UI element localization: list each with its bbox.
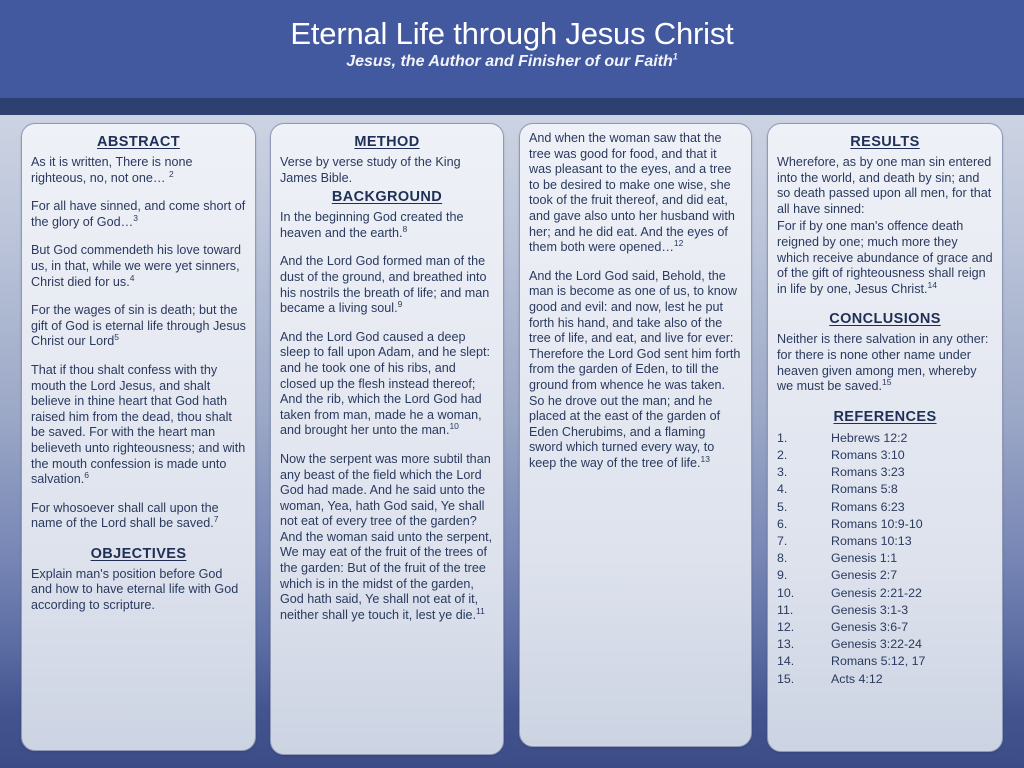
heading-abstract: ABSTRACT bbox=[31, 133, 246, 151]
conclusions-text: Neither is there salvation in any other:… bbox=[777, 332, 993, 394]
results-paragraph-1-text: Wherefore, as by one man sin entered int… bbox=[777, 155, 991, 216]
reference-row: 14.Romans 5:12, 17 bbox=[777, 653, 993, 670]
reference-citation: Romans 6:23 bbox=[831, 499, 993, 516]
reference-number: 12. bbox=[777, 619, 831, 636]
reference-citation: Romans 5:12, 17 bbox=[831, 653, 993, 670]
reference-citation: Hebrews 12:2 bbox=[831, 430, 993, 447]
method-text: Verse by verse study of the King James B… bbox=[280, 155, 494, 186]
heading-background: BACKGROUND bbox=[280, 188, 494, 206]
reference-citation: Romans 3:23 bbox=[831, 464, 993, 481]
objectives-text: Explain man's position before God and ho… bbox=[31, 567, 246, 614]
reference-number: 10. bbox=[777, 585, 831, 602]
reference-citation: Genesis 3:6-7 bbox=[831, 619, 993, 636]
heading-results: RESULTS bbox=[777, 133, 993, 151]
background-paragraph-3-ref: 10 bbox=[449, 421, 458, 431]
abstract-paragraph-3-ref: 4 bbox=[130, 272, 135, 282]
reference-citation: Genesis 3:1-3 bbox=[831, 602, 993, 619]
reference-citation: Genesis 1:1 bbox=[831, 550, 993, 567]
reference-number: 9. bbox=[777, 567, 831, 584]
heading-objectives: OBJECTIVES bbox=[31, 545, 246, 563]
conclusions-text-ref: 15 bbox=[882, 377, 891, 387]
narrative-paragraph-1-ref: 12 bbox=[674, 238, 683, 248]
panel-results: RESULTS Wherefore, as by one man sin ent… bbox=[767, 123, 1003, 752]
abstract-paragraph-4-text: For the wages of sin is death; but the g… bbox=[31, 303, 246, 348]
narrative-paragraph-1: And when the woman saw that the tree was… bbox=[529, 131, 742, 256]
reference-row: 4.Romans 5:8 bbox=[777, 481, 993, 498]
reference-citation: Acts 4:12 bbox=[831, 671, 993, 688]
reference-number: 1. bbox=[777, 430, 831, 447]
abstract-paragraph-1: As it is written, There is none righteou… bbox=[31, 155, 246, 186]
poster-canvas: Eternal Life through Jesus Christ Jesus,… bbox=[0, 0, 1024, 768]
reference-row: 9.Genesis 2:7 bbox=[777, 567, 993, 584]
reference-row: 2.Romans 3:10 bbox=[777, 447, 993, 464]
reference-citation: Genesis 2:7 bbox=[831, 567, 993, 584]
reference-number: 13. bbox=[777, 636, 831, 653]
abstract-paragraph-4-ref: 5 bbox=[114, 332, 119, 342]
reference-row: 6.Romans 10:9-10 bbox=[777, 516, 993, 533]
background-paragraph-3: And the Lord God caused a deep sleep to … bbox=[280, 330, 494, 439]
reference-row: 15.Acts 4:12 bbox=[777, 671, 993, 688]
background-paragraph-4: Now the serpent was more subtil than any… bbox=[280, 452, 494, 624]
narrative-paragraph-2-text: And the Lord God said, Behold, the man i… bbox=[529, 269, 740, 470]
reference-citation: Romans 3:10 bbox=[831, 447, 993, 464]
reference-citation: Romans 10:9-10 bbox=[831, 516, 993, 533]
abstract-paragraph-2: For all have sinned, and come short of t… bbox=[31, 199, 246, 230]
header-accent-stripe bbox=[0, 98, 1024, 115]
reference-number: 15. bbox=[777, 671, 831, 688]
background-paragraph-2-text: And the Lord God formed man of the dust … bbox=[280, 254, 489, 315]
page-subtitle-text: Jesus, the Author and Finisher of our Fa… bbox=[346, 53, 673, 70]
panel-narrative: And when the woman saw that the tree was… bbox=[519, 123, 752, 747]
reference-number: 6. bbox=[777, 516, 831, 533]
abstract-paragraph-5-ref: 6 bbox=[84, 470, 89, 480]
reference-number: 2. bbox=[777, 447, 831, 464]
abstract-paragraph-6-ref: 7 bbox=[214, 514, 219, 524]
abstract-paragraph-2-ref: 3 bbox=[133, 213, 138, 223]
reference-number: 8. bbox=[777, 550, 831, 567]
abstract-paragraph-2-text: For all have sinned, and come short of t… bbox=[31, 199, 245, 229]
background-paragraph-4-text: Now the serpent was more subtil than any… bbox=[280, 452, 492, 622]
abstract-paragraph-3: But God commendeth his love toward us, i… bbox=[31, 243, 246, 290]
reference-row: 7.Romans 10:13 bbox=[777, 533, 993, 550]
results-paragraph-2: For if by one man's offence death reigne… bbox=[777, 219, 993, 297]
reference-number: 3. bbox=[777, 464, 831, 481]
references-list: 1.Hebrews 12:2 2.Romans 3:10 3.Romans 3:… bbox=[777, 430, 993, 688]
reference-number: 14. bbox=[777, 653, 831, 670]
results-paragraph-2-text: For if by one man's offence death reigne… bbox=[777, 219, 993, 295]
reference-citation: Romans 10:13 bbox=[831, 533, 993, 550]
background-paragraph-2: And the Lord God formed man of the dust … bbox=[280, 254, 494, 316]
abstract-paragraph-3-text: But God commendeth his love toward us, i… bbox=[31, 243, 241, 288]
reference-number: 7. bbox=[777, 533, 831, 550]
panel-method: METHOD Verse by verse study of the King … bbox=[270, 123, 504, 755]
abstract-paragraph-5-text: That if thou shalt confess with thy mout… bbox=[31, 363, 245, 486]
background-paragraph-1-text: In the beginning God created the heaven … bbox=[280, 210, 463, 240]
background-paragraph-1: In the beginning God created the heaven … bbox=[280, 210, 494, 241]
abstract-paragraph-1-ref: 2 bbox=[169, 168, 174, 178]
reference-number: 4. bbox=[777, 481, 831, 498]
heading-conclusions: CONCLUSIONS bbox=[777, 310, 993, 328]
abstract-paragraph-5: That if thou shalt confess with thy mout… bbox=[31, 363, 246, 488]
reference-row: 8.Genesis 1:1 bbox=[777, 550, 993, 567]
reference-row: 5.Romans 6:23 bbox=[777, 499, 993, 516]
page-subtitle-superscript: 1 bbox=[673, 52, 678, 62]
reference-row: 3.Romans 3:23 bbox=[777, 464, 993, 481]
reference-row: 11.Genesis 3:1-3 bbox=[777, 602, 993, 619]
reference-row: 13.Genesis 3:22-24 bbox=[777, 636, 993, 653]
reference-citation: Genesis 2:21-22 bbox=[831, 585, 993, 602]
page-subtitle: Jesus, the Author and Finisher of our Fa… bbox=[0, 51, 1024, 73]
abstract-paragraph-6: For whosoever shall call upon the name o… bbox=[31, 501, 246, 532]
heading-references: REFERENCES bbox=[777, 408, 993, 426]
background-paragraph-4-ref: 11 bbox=[476, 606, 485, 616]
reference-row: 10.Genesis 2:21-22 bbox=[777, 585, 993, 602]
reference-row: 1.Hebrews 12:2 bbox=[777, 430, 993, 447]
reference-row: 12.Genesis 3:6-7 bbox=[777, 619, 993, 636]
narrative-paragraph-2: And the Lord God said, Behold, the man i… bbox=[529, 269, 742, 472]
reference-citation: Genesis 3:22-24 bbox=[831, 636, 993, 653]
heading-method: METHOD bbox=[280, 133, 494, 151]
reference-number: 11. bbox=[777, 602, 831, 619]
panel-abstract: ABSTRACT As it is written, There is none… bbox=[21, 123, 256, 751]
abstract-paragraph-6-text: For whosoever shall call upon the name o… bbox=[31, 501, 219, 531]
reference-number: 5. bbox=[777, 499, 831, 516]
background-paragraph-1-ref: 8 bbox=[403, 224, 408, 234]
results-paragraph-2-ref: 14 bbox=[928, 280, 937, 290]
page-title: Eternal Life through Jesus Christ bbox=[0, 14, 1024, 54]
narrative-paragraph-1-text: And when the woman saw that the tree was… bbox=[529, 131, 735, 254]
results-paragraph-1: Wherefore, as by one man sin entered int… bbox=[777, 155, 993, 217]
reference-citation: Romans 5:8 bbox=[831, 481, 993, 498]
abstract-paragraph-4: For the wages of sin is death; but the g… bbox=[31, 303, 246, 350]
narrative-paragraph-2-ref: 13 bbox=[701, 454, 710, 464]
background-paragraph-2-ref: 9 bbox=[398, 299, 403, 309]
